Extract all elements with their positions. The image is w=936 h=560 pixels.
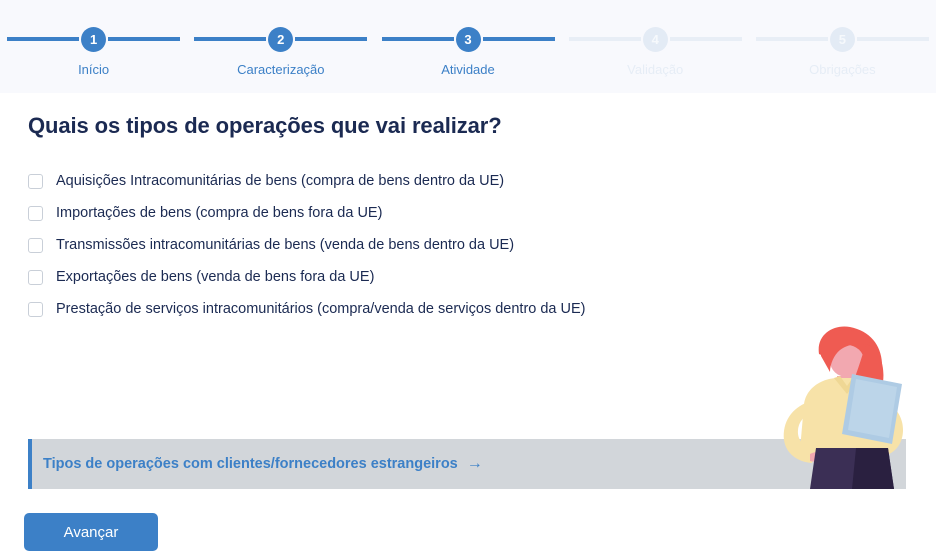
banner-link[interactable]: Tipos de operações com clientes/forneced… bbox=[43, 456, 458, 472]
stepper-track-5: 5 bbox=[749, 26, 936, 52]
stepper-label-4: Validação bbox=[562, 62, 749, 77]
option-row-importacoes[interactable]: Importações de bens (compra de bens fora… bbox=[28, 197, 768, 229]
stepper-line-left-3 bbox=[382, 37, 454, 41]
stepper-line-left-2 bbox=[194, 37, 266, 41]
stepper-line-right-3 bbox=[483, 37, 555, 41]
stepper-line-right-5 bbox=[857, 37, 929, 41]
option-row-transmissoes-intracomunitarias[interactable]: Transmissões intracomunitárias de bens (… bbox=[28, 229, 768, 261]
stepper-circle-5: 5 bbox=[830, 27, 855, 52]
stepper-track-4: 4 bbox=[562, 26, 749, 52]
stepper-label-3: Atividade bbox=[374, 62, 561, 77]
stepper-step-4: 4 Validação bbox=[562, 0, 749, 93]
stepper-circle-2[interactable]: 2 bbox=[268, 27, 293, 52]
option-label: Exportações de bens (venda de bens fora … bbox=[56, 269, 374, 285]
stepper-circle-3[interactable]: 3 bbox=[456, 27, 481, 52]
stepper-line-right-1 bbox=[108, 37, 180, 41]
checkbox-icon[interactable] bbox=[28, 238, 43, 253]
stepper-step-2[interactable]: 2 Caracterização bbox=[187, 0, 374, 93]
stepper-line-left-4 bbox=[569, 37, 641, 41]
option-label: Transmissões intracomunitárias de bens (… bbox=[56, 237, 514, 253]
option-row-aquisicoes-intracomunitarias[interactable]: Aquisições Intracomunitárias de bens (co… bbox=[28, 165, 768, 197]
stepper-label-2: Caracterização bbox=[187, 62, 374, 77]
stepper-track-3: 3 bbox=[374, 26, 561, 52]
stepper-circle-4: 4 bbox=[643, 27, 668, 52]
page-title: Quais os tipos de operações que vai real… bbox=[28, 113, 502, 139]
checkbox-icon[interactable] bbox=[28, 270, 43, 285]
stepper-label-1: Início bbox=[0, 62, 187, 77]
advance-button[interactable]: Avançar bbox=[24, 513, 158, 551]
stepper-track-1: 1 bbox=[0, 26, 187, 52]
checkbox-icon[interactable] bbox=[28, 206, 43, 221]
operation-types-checkbox-group: Aquisições Intracomunitárias de bens (co… bbox=[28, 165, 768, 325]
main-content: Quais os tipos de operações que vai real… bbox=[0, 93, 936, 560]
option-label: Prestação de serviços intracomunitários … bbox=[56, 301, 586, 317]
stepper-line-left-1 bbox=[7, 37, 79, 41]
option-label: Importações de bens (compra de bens fora… bbox=[56, 205, 382, 221]
checkbox-icon[interactable] bbox=[28, 174, 43, 189]
stepper-label-5: Obrigações bbox=[749, 62, 936, 77]
stepper-circle-1[interactable]: 1 bbox=[81, 27, 106, 52]
stepper-step-5: 5 Obrigações bbox=[749, 0, 936, 93]
stepper-line-left-5 bbox=[756, 37, 828, 41]
stepper-step-3[interactable]: 3 Atividade bbox=[374, 0, 561, 93]
info-banner: Tipos de operações com clientes/forneced… bbox=[28, 439, 906, 489]
option-row-exportacoes[interactable]: Exportações de bens (venda de bens fora … bbox=[28, 261, 768, 293]
progress-stepper: 1 Início 2 Caracterização 3 Atividade 4 … bbox=[0, 0, 936, 93]
stepper-step-1[interactable]: 1 Início bbox=[0, 0, 187, 93]
stepper-line-right-4 bbox=[670, 37, 742, 41]
checkbox-icon[interactable] bbox=[28, 302, 43, 317]
stepper-line-right-2 bbox=[295, 37, 367, 41]
option-row-prestacao-servicos[interactable]: Prestação de serviços intracomunitários … bbox=[28, 293, 768, 325]
stepper-track-2: 2 bbox=[187, 26, 374, 52]
arrow-right-icon[interactable]: → bbox=[467, 455, 483, 473]
option-label: Aquisições Intracomunitárias de bens (co… bbox=[56, 173, 504, 189]
